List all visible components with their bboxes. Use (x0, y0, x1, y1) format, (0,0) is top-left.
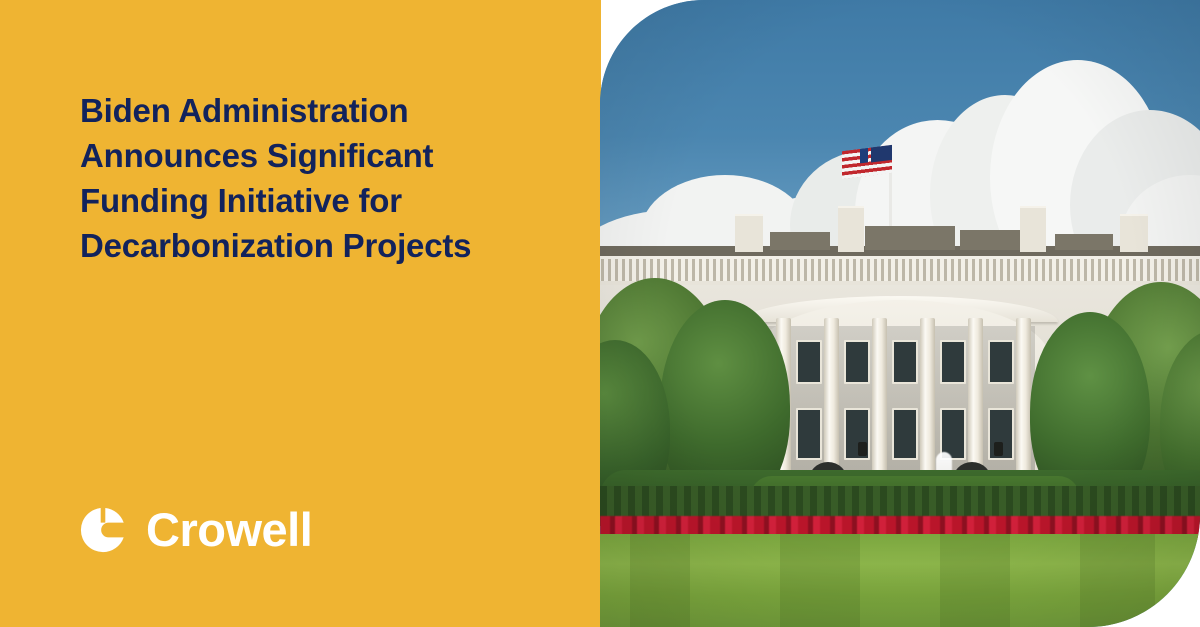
headline-line-2: Announces Significant (80, 133, 540, 178)
hero-image-panel (600, 0, 1200, 627)
social-card: Biden Administration Announces Significa… (0, 0, 1200, 627)
left-content-panel: Biden Administration Announces Significa… (0, 0, 601, 627)
brand-wordmark: Crowell (146, 506, 312, 553)
brand-logo[interactable]: Crowell (80, 506, 312, 553)
headline-line-3: Funding Initiative for (80, 178, 540, 223)
white-house-photo (600, 0, 1200, 627)
page-title: Biden Administration Announces Significa… (80, 88, 540, 268)
headline-line-1: Biden Administration (80, 88, 540, 133)
photo-vignette (600, 0, 1200, 627)
crowell-c-circle-icon (80, 507, 126, 553)
headline-line-4: Decarbonization Projects (80, 223, 540, 268)
